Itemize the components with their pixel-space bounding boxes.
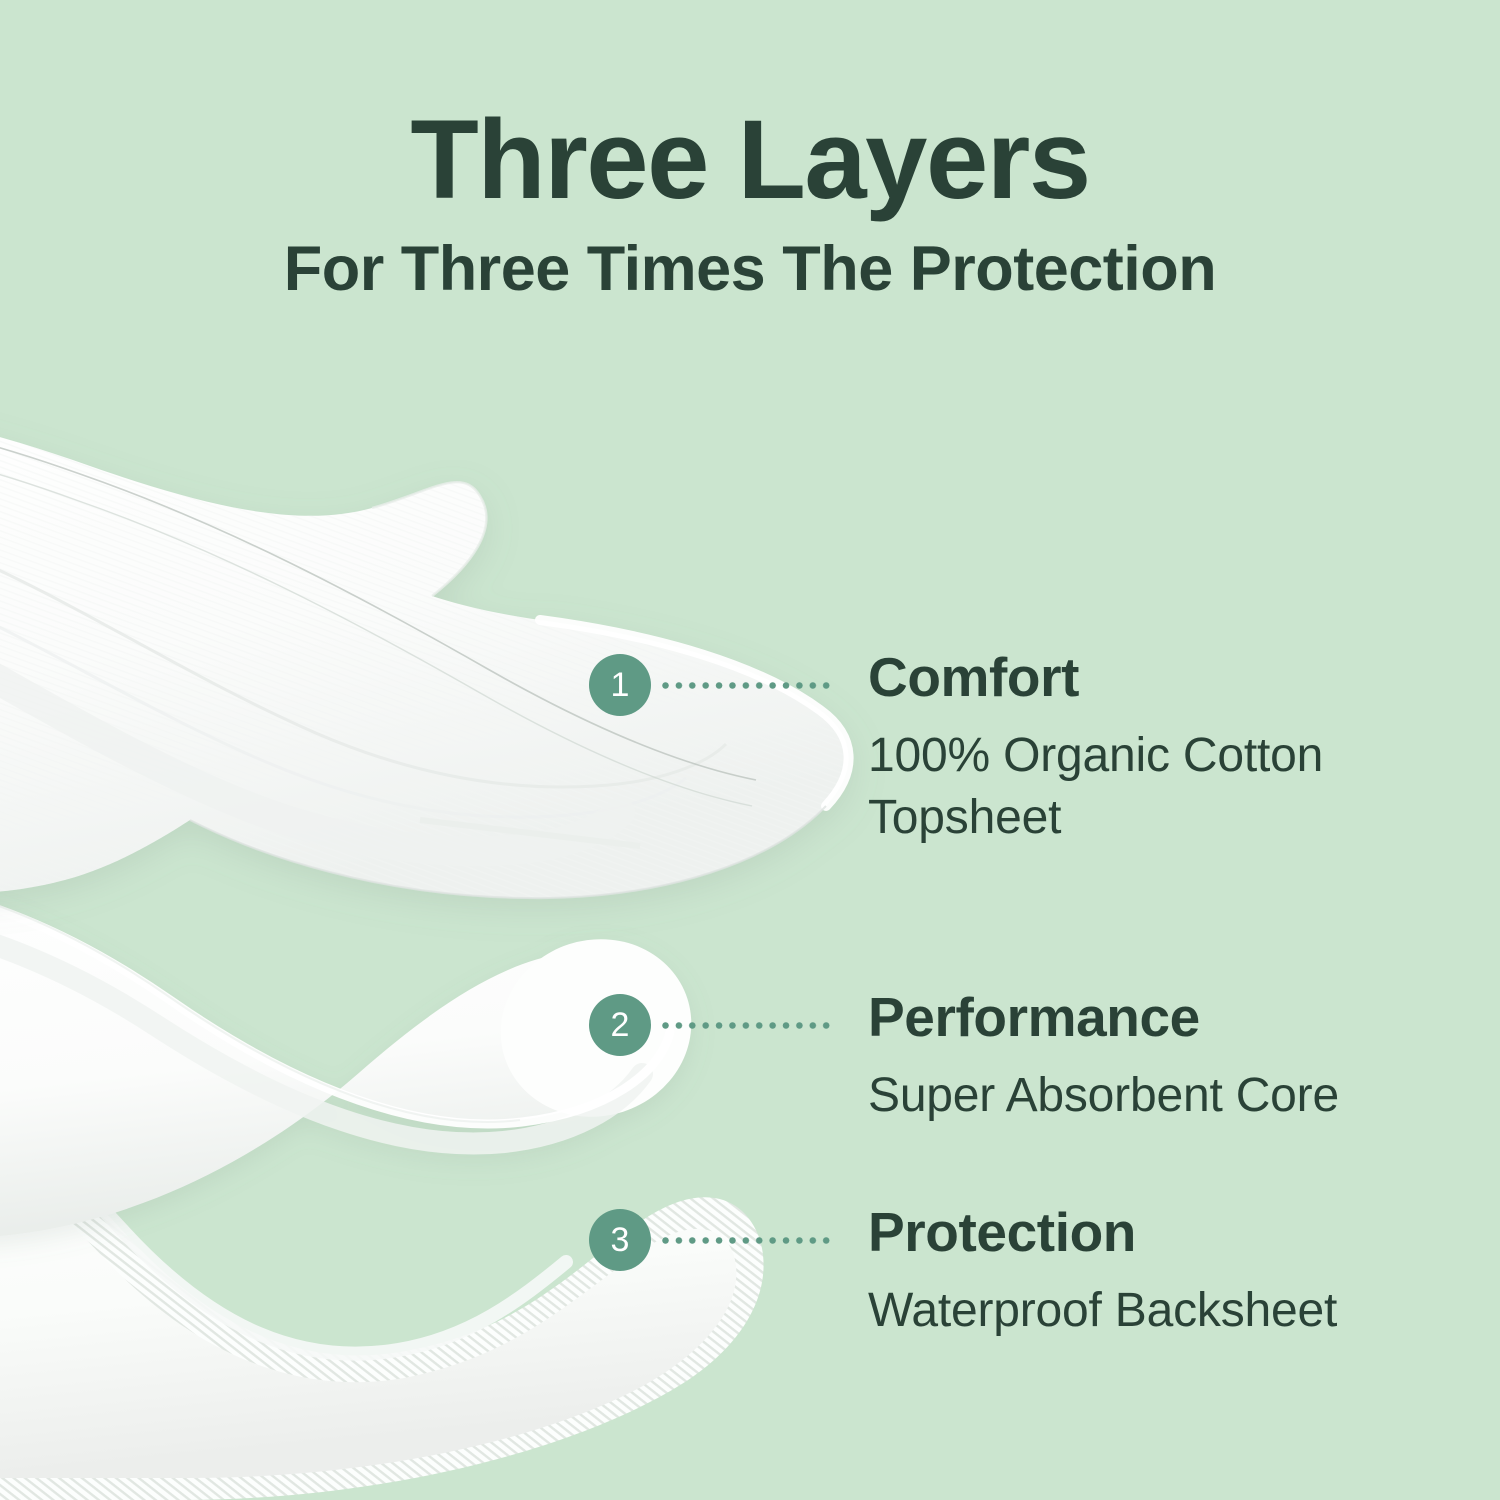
topsheet-layer	[0, 402, 849, 898]
callout-description-3: Waterproof Backsheet	[868, 1260, 1468, 1342]
callout-title-2: Performance	[868, 990, 1468, 1045]
callout-number-1: 1	[611, 668, 630, 702]
callout-text-3: Protection Waterproof Backsheet	[868, 1205, 1468, 1342]
infographic-canvas: Three Layers For Three Times The Protect…	[0, 0, 1500, 1500]
callout-number-3: 3	[611, 1223, 630, 1257]
connector-dots-3	[662, 1237, 830, 1244]
callout-badge-3: 3	[589, 1209, 651, 1271]
callout-badge-2: 2	[589, 994, 651, 1056]
connector-dots-2	[662, 1022, 830, 1029]
callout-title-3: Protection	[868, 1205, 1468, 1260]
callout-badge-1: 1	[589, 654, 651, 716]
callout-text-2: Performance Super Absorbent Core	[868, 990, 1468, 1127]
callout-title-1: Comfort	[868, 650, 1468, 705]
callout-description-2: Super Absorbent Core	[868, 1045, 1468, 1127]
callout-number-2: 2	[611, 1008, 630, 1042]
absorbent-core-layer	[0, 874, 714, 1239]
callout-description-1: 100% Organic Cotton Topsheet	[868, 705, 1468, 850]
connector-dots-1	[662, 682, 830, 689]
callout-text-1: Comfort 100% Organic Cotton Topsheet	[868, 650, 1468, 850]
